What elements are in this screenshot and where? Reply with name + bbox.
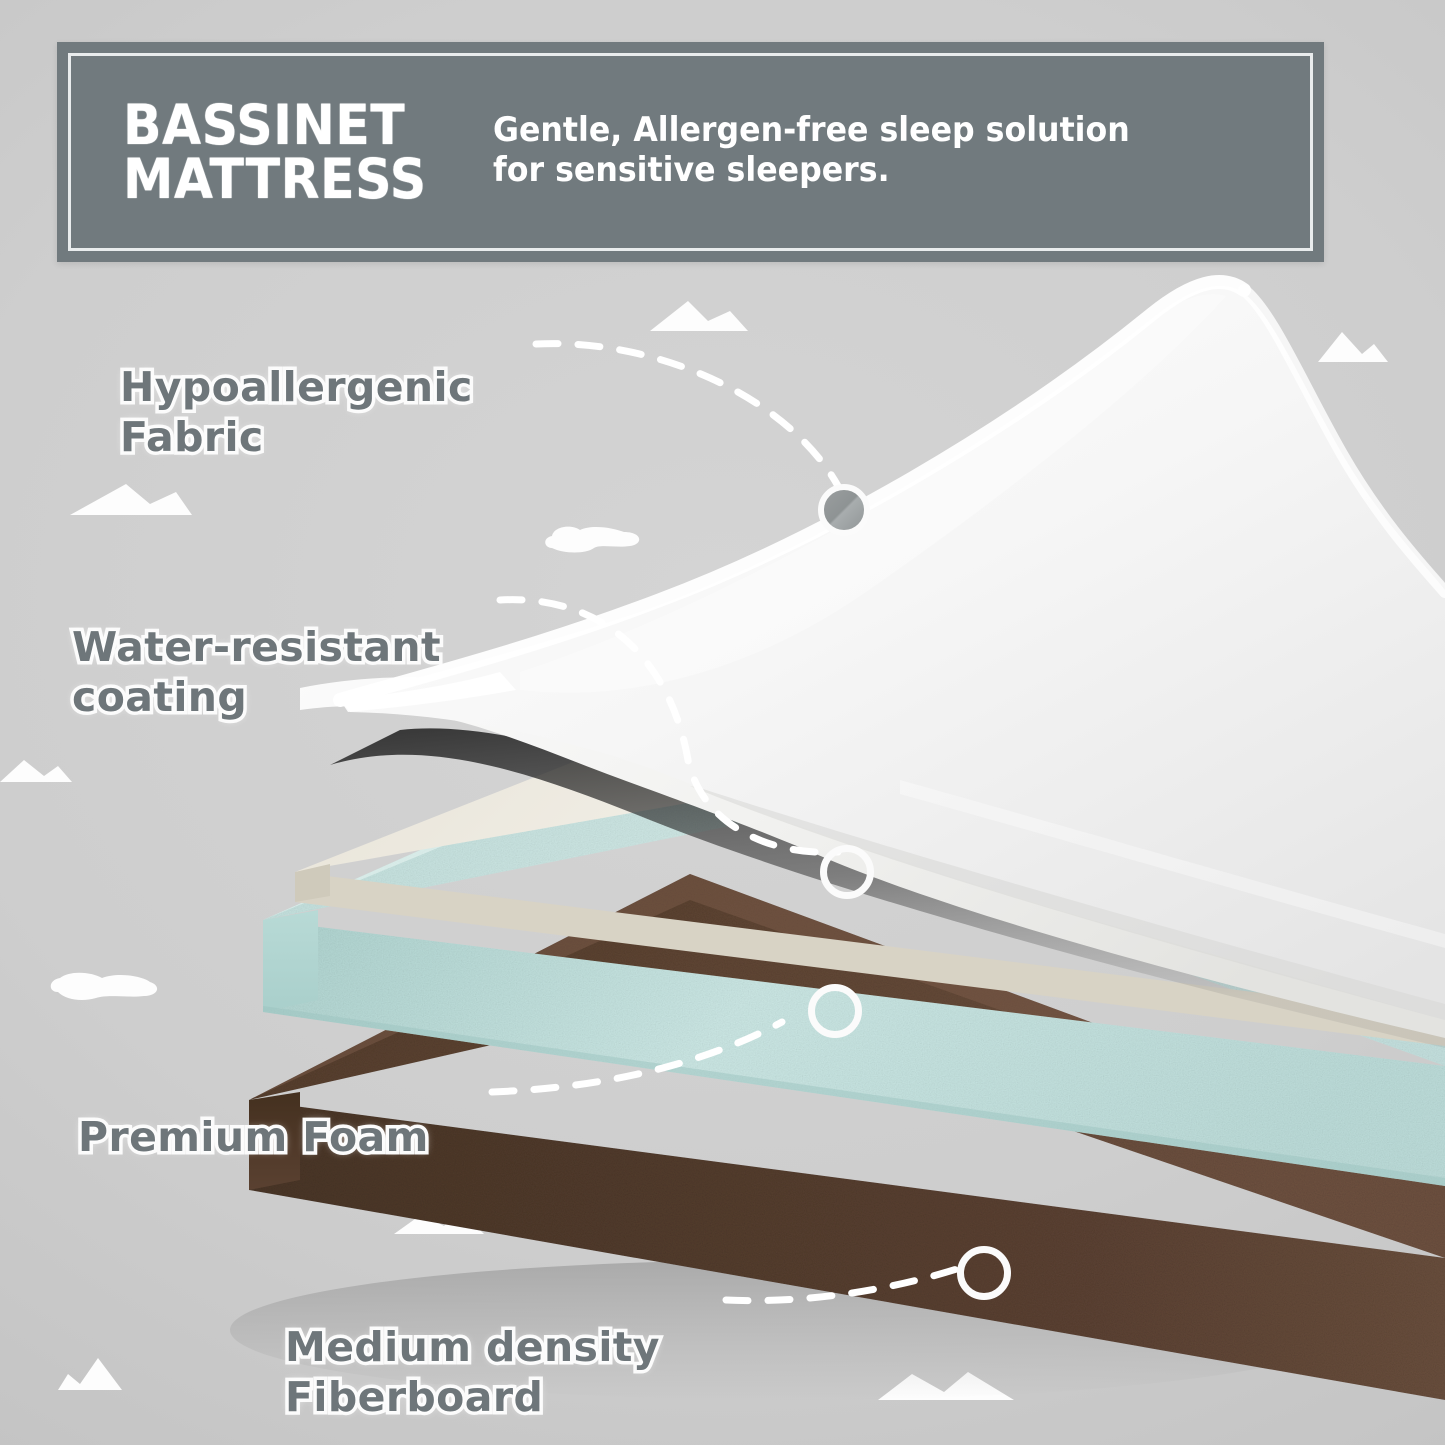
infographic-canvas: BASSINET MATTRESS Gentle, Allergen-free … — [0, 0, 1445, 1445]
callout-marker-hypoallergenic-fabric[interactable] — [818, 484, 870, 536]
callout-marker-medium-density-fiberboard[interactable] — [957, 1246, 1011, 1300]
callout-label-medium-density-fiberboard: Medium density Fiberboard — [285, 1272, 660, 1422]
callout-label-text: Water-resistant coating — [72, 623, 441, 721]
callout-label-text: Premium Foam — [78, 1113, 429, 1161]
callout-marker-premium-foam[interactable] — [808, 984, 862, 1038]
callout-label-hypoallergenic-fabric: Hypoallergenic Fabric — [120, 312, 473, 462]
callout-marker-water-resistant-coating[interactable] — [820, 845, 874, 899]
callout-label-text: Hypoallergenic Fabric — [120, 363, 473, 461]
header-banner: BASSINET MATTRESS Gentle, Allergen-free … — [57, 42, 1324, 262]
header-tagline: Gentle, Allergen-free sleep solution for… — [493, 110, 1130, 190]
page-title: BASSINET MATTRESS — [123, 98, 427, 207]
callout-label-water-resistant-coating: Water-resistant coating — [72, 572, 441, 722]
callout-label-premium-foam: Premium Foam — [78, 1062, 429, 1162]
callout-label-text: Medium density Fiberboard — [285, 1323, 660, 1421]
